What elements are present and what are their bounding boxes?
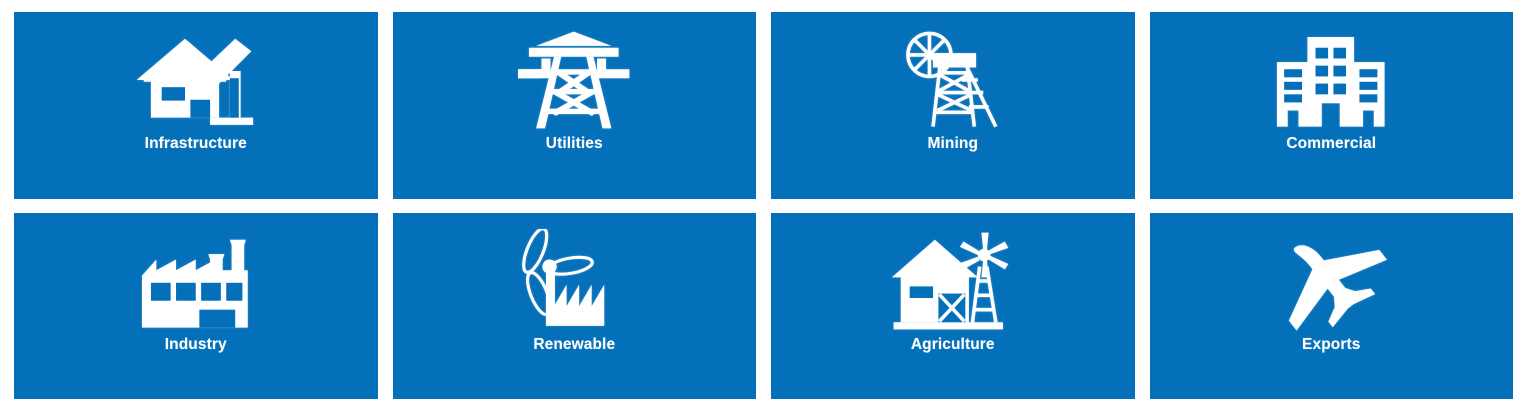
tile-exports[interactable]: Exports: [1150, 213, 1514, 400]
tile-infrastructure[interactable]: Infrastructure: [14, 12, 378, 199]
tile-label: Exports: [1302, 337, 1360, 353]
tile-renewable[interactable]: Renewable: [393, 213, 757, 400]
power-pylon-icon: [393, 28, 757, 132]
tile-label: Commercial: [1286, 136, 1376, 152]
tile-utilities[interactable]: Utilities: [393, 12, 757, 199]
tile-industry[interactable]: Industry: [14, 213, 378, 400]
tile-label: Utilities: [546, 136, 603, 152]
tile-label: Renewable: [533, 337, 615, 353]
office-buildings-icon: [1150, 28, 1514, 132]
tile-mining[interactable]: Mining: [771, 12, 1135, 199]
farmhouse-windmill-icon: [771, 229, 1135, 333]
factory-icon: [14, 229, 378, 333]
airplane-icon: [1150, 229, 1514, 333]
tile-label: Agriculture: [911, 337, 995, 353]
house-roof-icon: [14, 28, 378, 132]
tile-label: Industry: [165, 337, 227, 353]
tile-commercial[interactable]: Commercial: [1150, 12, 1514, 199]
tile-agriculture[interactable]: Agriculture: [771, 213, 1135, 400]
tile-label: Infrastructure: [145, 136, 247, 152]
mine-headframe-icon: [771, 28, 1135, 132]
tile-label: Mining: [927, 136, 978, 152]
wind-turbine-factory-icon: [393, 229, 757, 333]
sector-tile-grid: Infrastructure: [0, 0, 1529, 415]
